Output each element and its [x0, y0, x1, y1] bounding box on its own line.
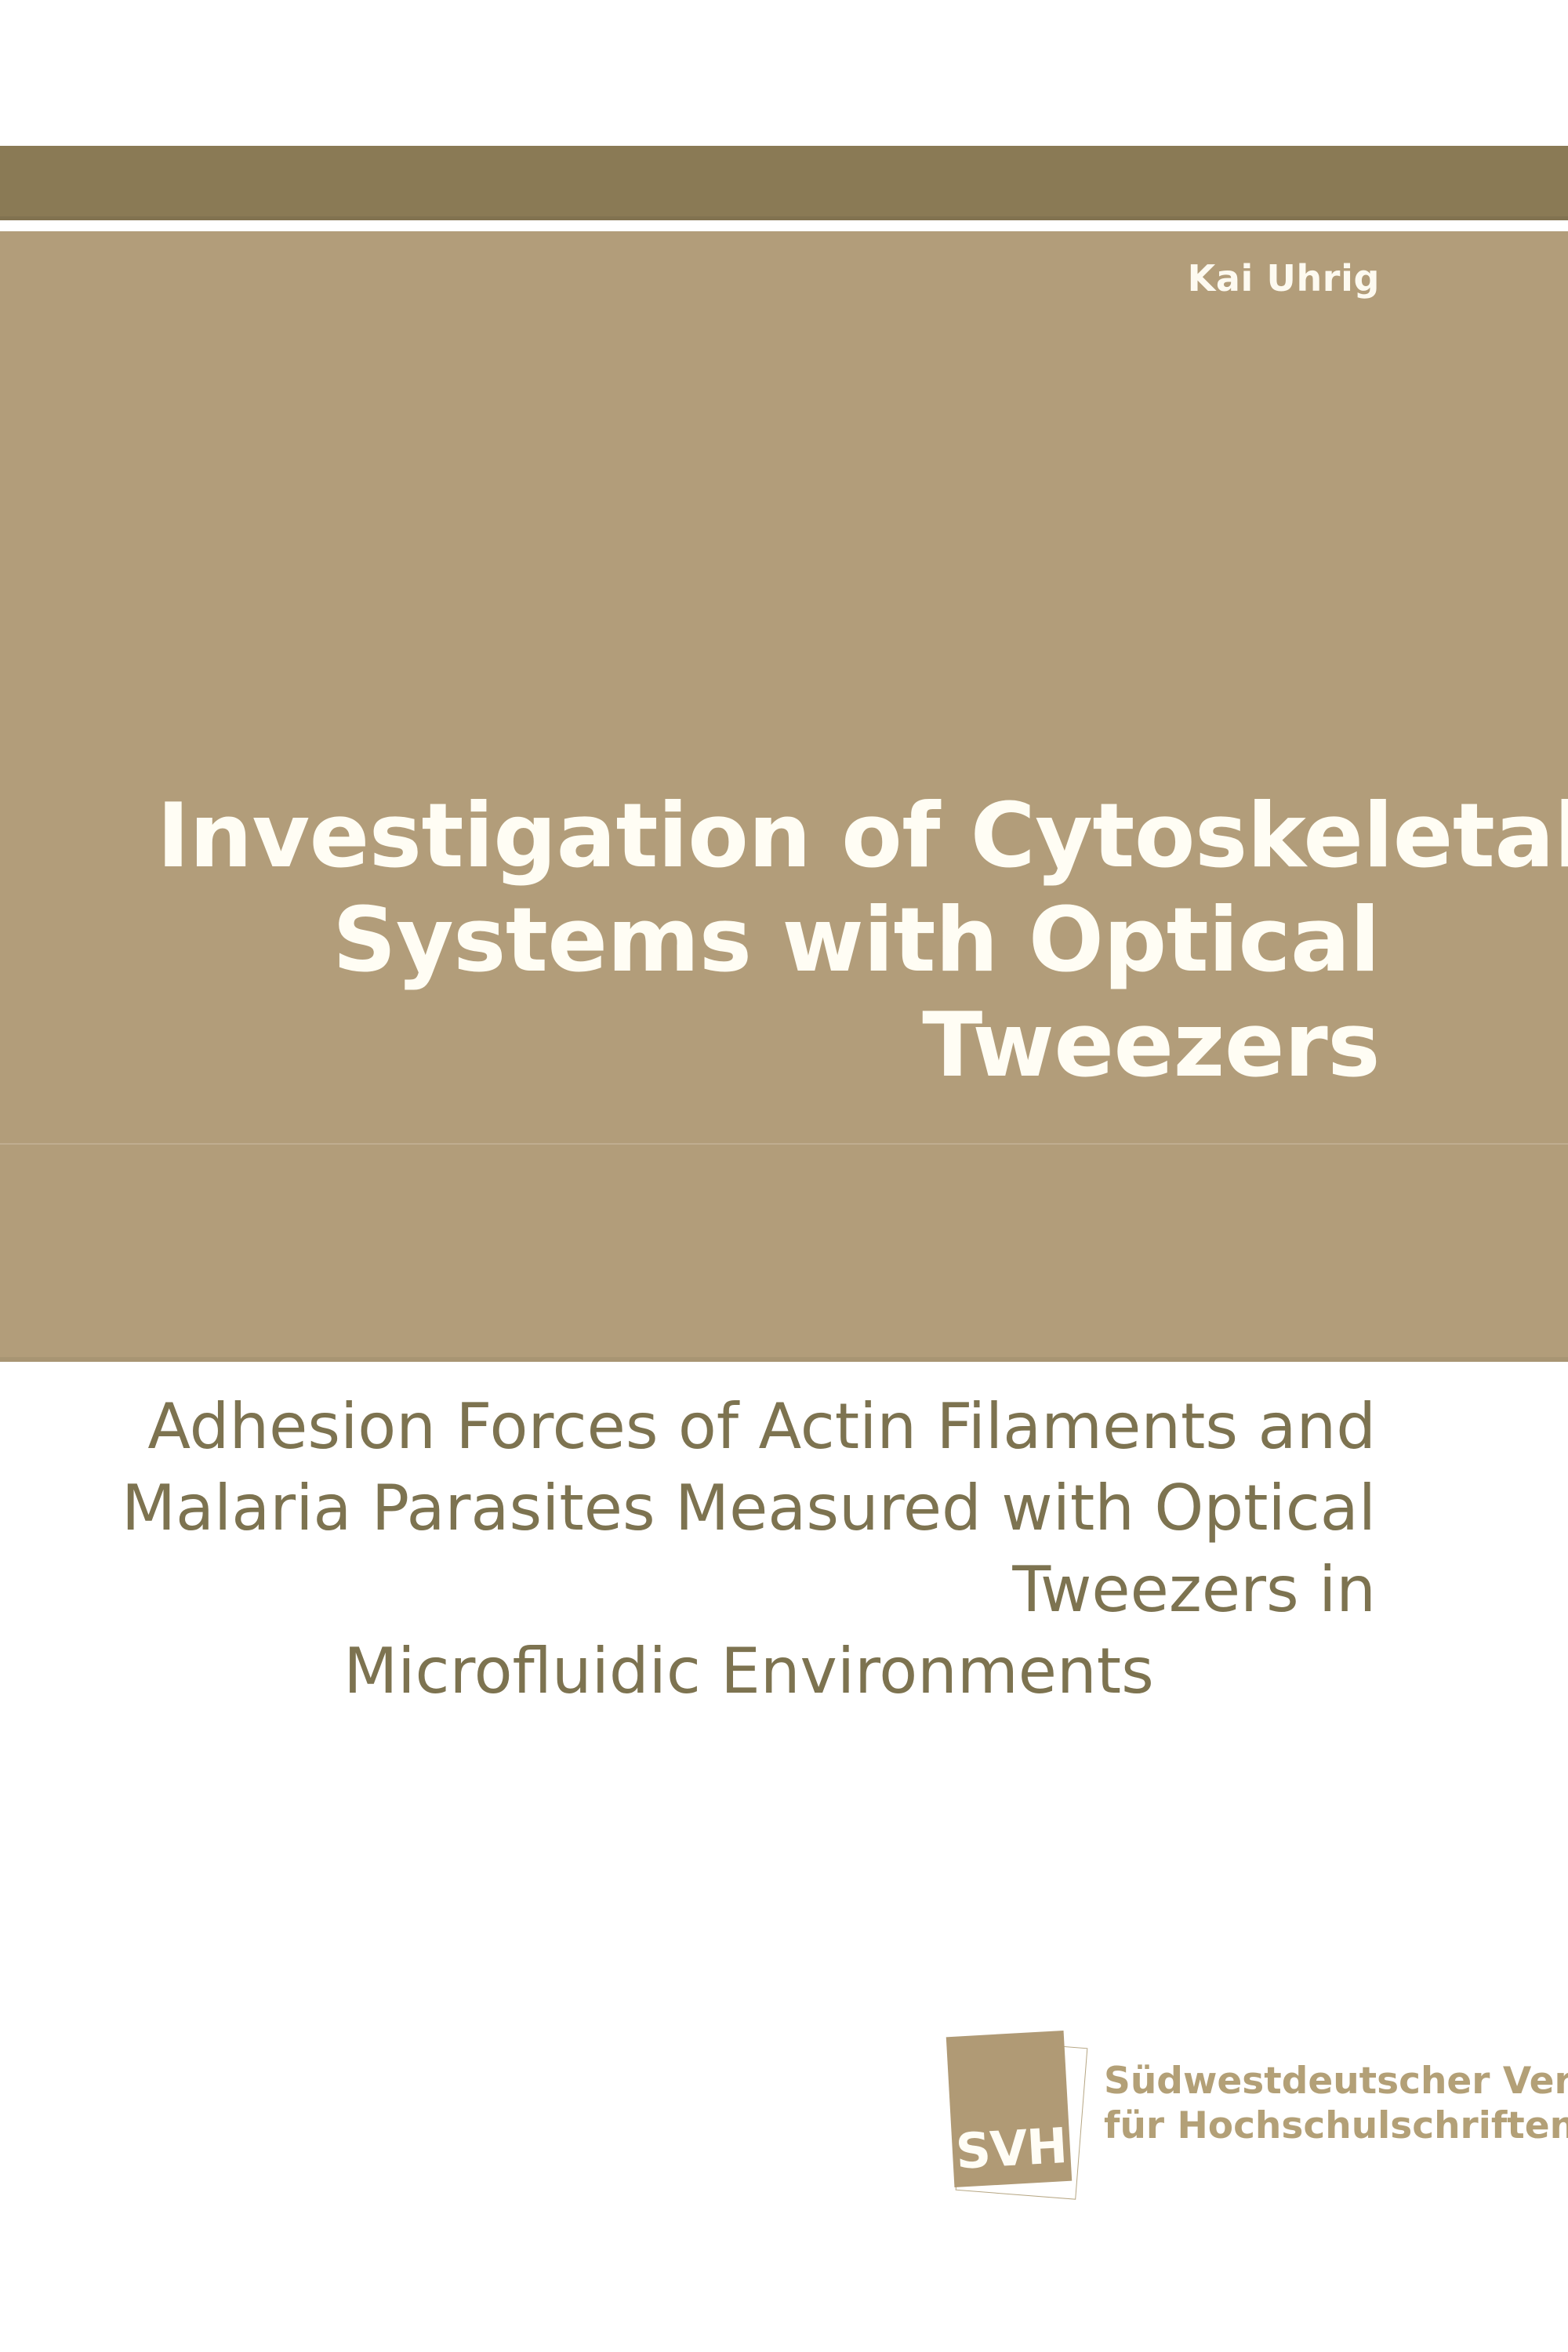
panel-hairline [0, 1143, 1568, 1145]
book-title: Investigation of Cytoskeletal Systems wi… [157, 784, 1380, 1098]
publisher-name-line-2: für Hochschulschriften [1104, 2103, 1527, 2148]
title-line-2: Systems with Optical [157, 888, 1380, 993]
title-line-3: Tweezers [157, 993, 1380, 1098]
top-accent-band [0, 146, 1568, 220]
author-name: Kai Uhrig [204, 259, 1380, 299]
subtitle-line-3: Tweezers in [122, 1549, 1376, 1631]
book-subtitle: Adhesion Forces of Actin Filaments and M… [122, 1386, 1376, 1712]
publisher-initials: SVH [951, 2122, 1071, 2176]
publisher-name: Südwestdeutscher Verlag für Hochschulsch… [1104, 2059, 1527, 2149]
subtitle-line-1: Adhesion Forces of Actin Filaments and [122, 1386, 1376, 1468]
logo-cover-shape: SVH [946, 2031, 1072, 2187]
publisher-logo: SVH Südwestdeutscher Verlag für Hochschu… [949, 2034, 1529, 2222]
svh-book-icon: SVH [949, 2034, 1086, 2198]
book-cover: Kai Uhrig Investigation of Cytoskeletal … [0, 0, 1568, 2352]
publisher-name-line-1: Südwestdeutscher Verlag [1104, 2059, 1527, 2103]
subtitle-line-4: Microfluidic Environments [122, 1631, 1376, 1712]
title-line-1: Investigation of Cytoskeletal [157, 784, 1380, 888]
subtitle-line-2: Malaria Parasites Measured with Optical [122, 1468, 1376, 1549]
